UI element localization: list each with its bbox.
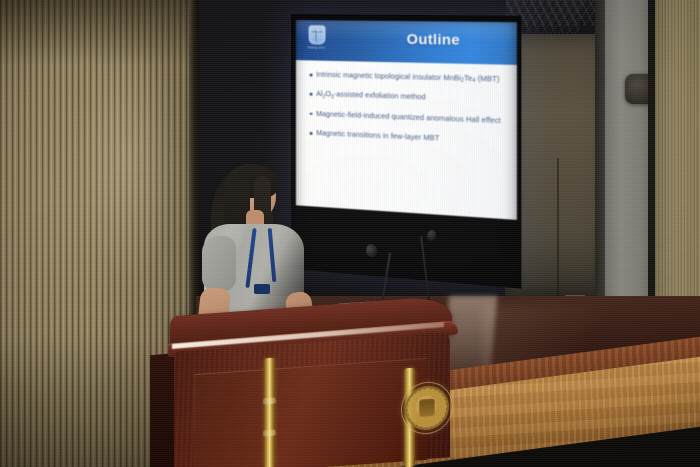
right-wall-slats [655, 0, 700, 300]
screen-bezel [291, 14, 521, 289]
lectern-front-panel [194, 358, 427, 467]
lectern-gold-ring [263, 430, 276, 437]
lectern-gold-ring [263, 398, 276, 405]
presenter-sleeve [202, 236, 236, 292]
panel-seam [557, 158, 559, 298]
lecture-hall-photo: Peking Univ. Outline Intrinsic magnetic … [0, 0, 700, 467]
projection-screen: Peking Univ. Outline Intrinsic magnetic … [291, 14, 521, 289]
right-wood-wall [655, 0, 700, 300]
lanyard-badge [254, 284, 270, 294]
seal-sigil-icon [419, 398, 435, 417]
lectern [160, 306, 460, 467]
lectern-gold-column-left [264, 358, 275, 467]
